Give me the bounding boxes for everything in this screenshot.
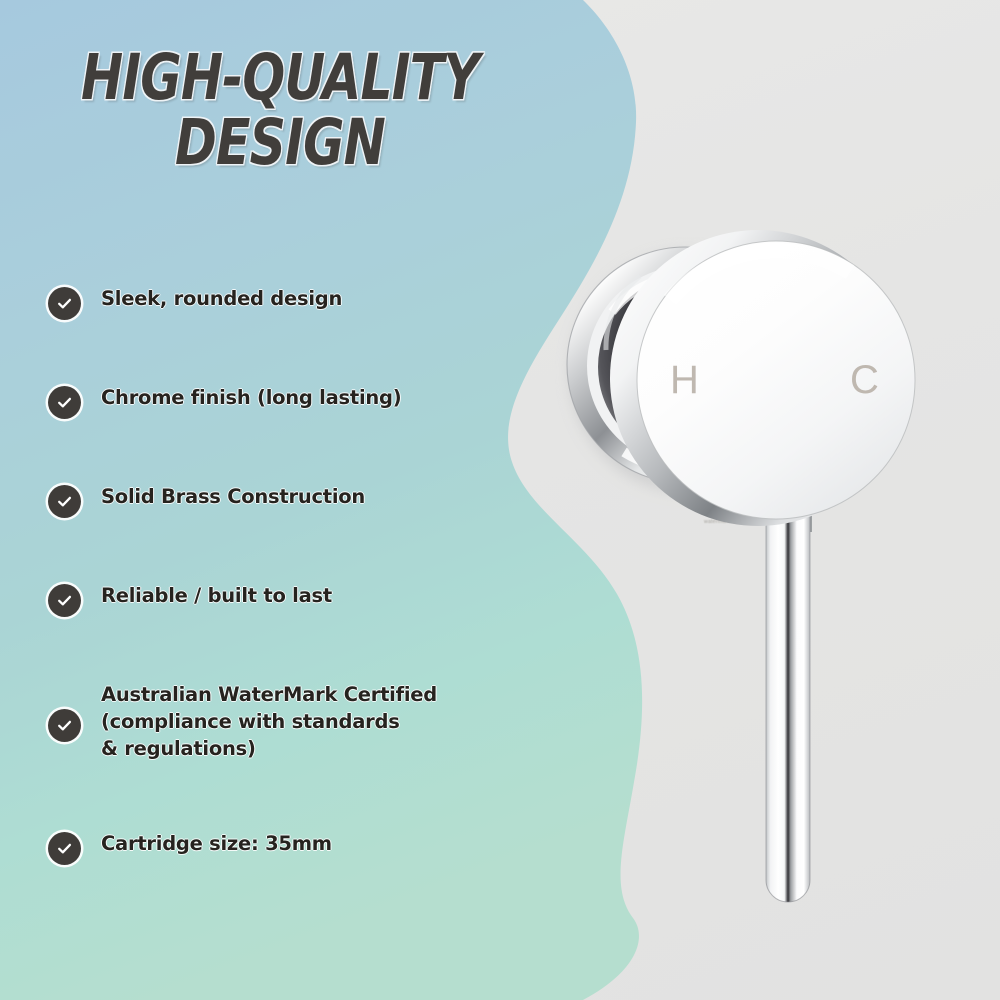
feature-label: Australian WaterMark Certified (complian… [101,682,437,763]
feature-label: Cartridge size: 35mm [101,831,332,858]
mixer-handle-disc[interactable]: H C [610,230,915,526]
check-circle-icon [48,287,81,320]
check-circle-icon [48,832,81,865]
check-circle-icon [48,709,81,742]
feature-item-chrome-finish: Chrome finish (long lasting) [48,385,401,419]
check-circle-icon [48,584,81,617]
feature-item-cartridge-size: Cartridge size: 35mm [48,831,332,865]
product-feature-poster: HIGH-QUALITY DESIGN Sleek, rounded desig… [0,0,1000,1000]
cold-engraving-label: C [850,358,880,402]
feature-label: Solid Brass Construction [101,484,365,511]
feature-label: Reliable / built to last [101,583,332,610]
hot-engraving-label: H [670,358,700,402]
lever-handle[interactable] [766,510,810,902]
feature-label: Chrome finish (long lasting) [101,385,401,412]
feature-item-solid-brass: Solid Brass Construction [48,484,365,518]
feature-label: Sleek, rounded design [101,286,342,313]
check-circle-icon [48,386,81,419]
feature-item-sleek-rounded-design: Sleek, rounded design [48,286,342,320]
feature-item-reliable-built-to-last: Reliable / built to last [48,583,332,617]
feature-item-watermark-certified: Australian WaterMark Certified (complian… [48,682,437,763]
check-circle-icon [48,485,81,518]
product-image-mixer-tap: AS 3718 WMTS034 watermark H C [520,180,980,940]
